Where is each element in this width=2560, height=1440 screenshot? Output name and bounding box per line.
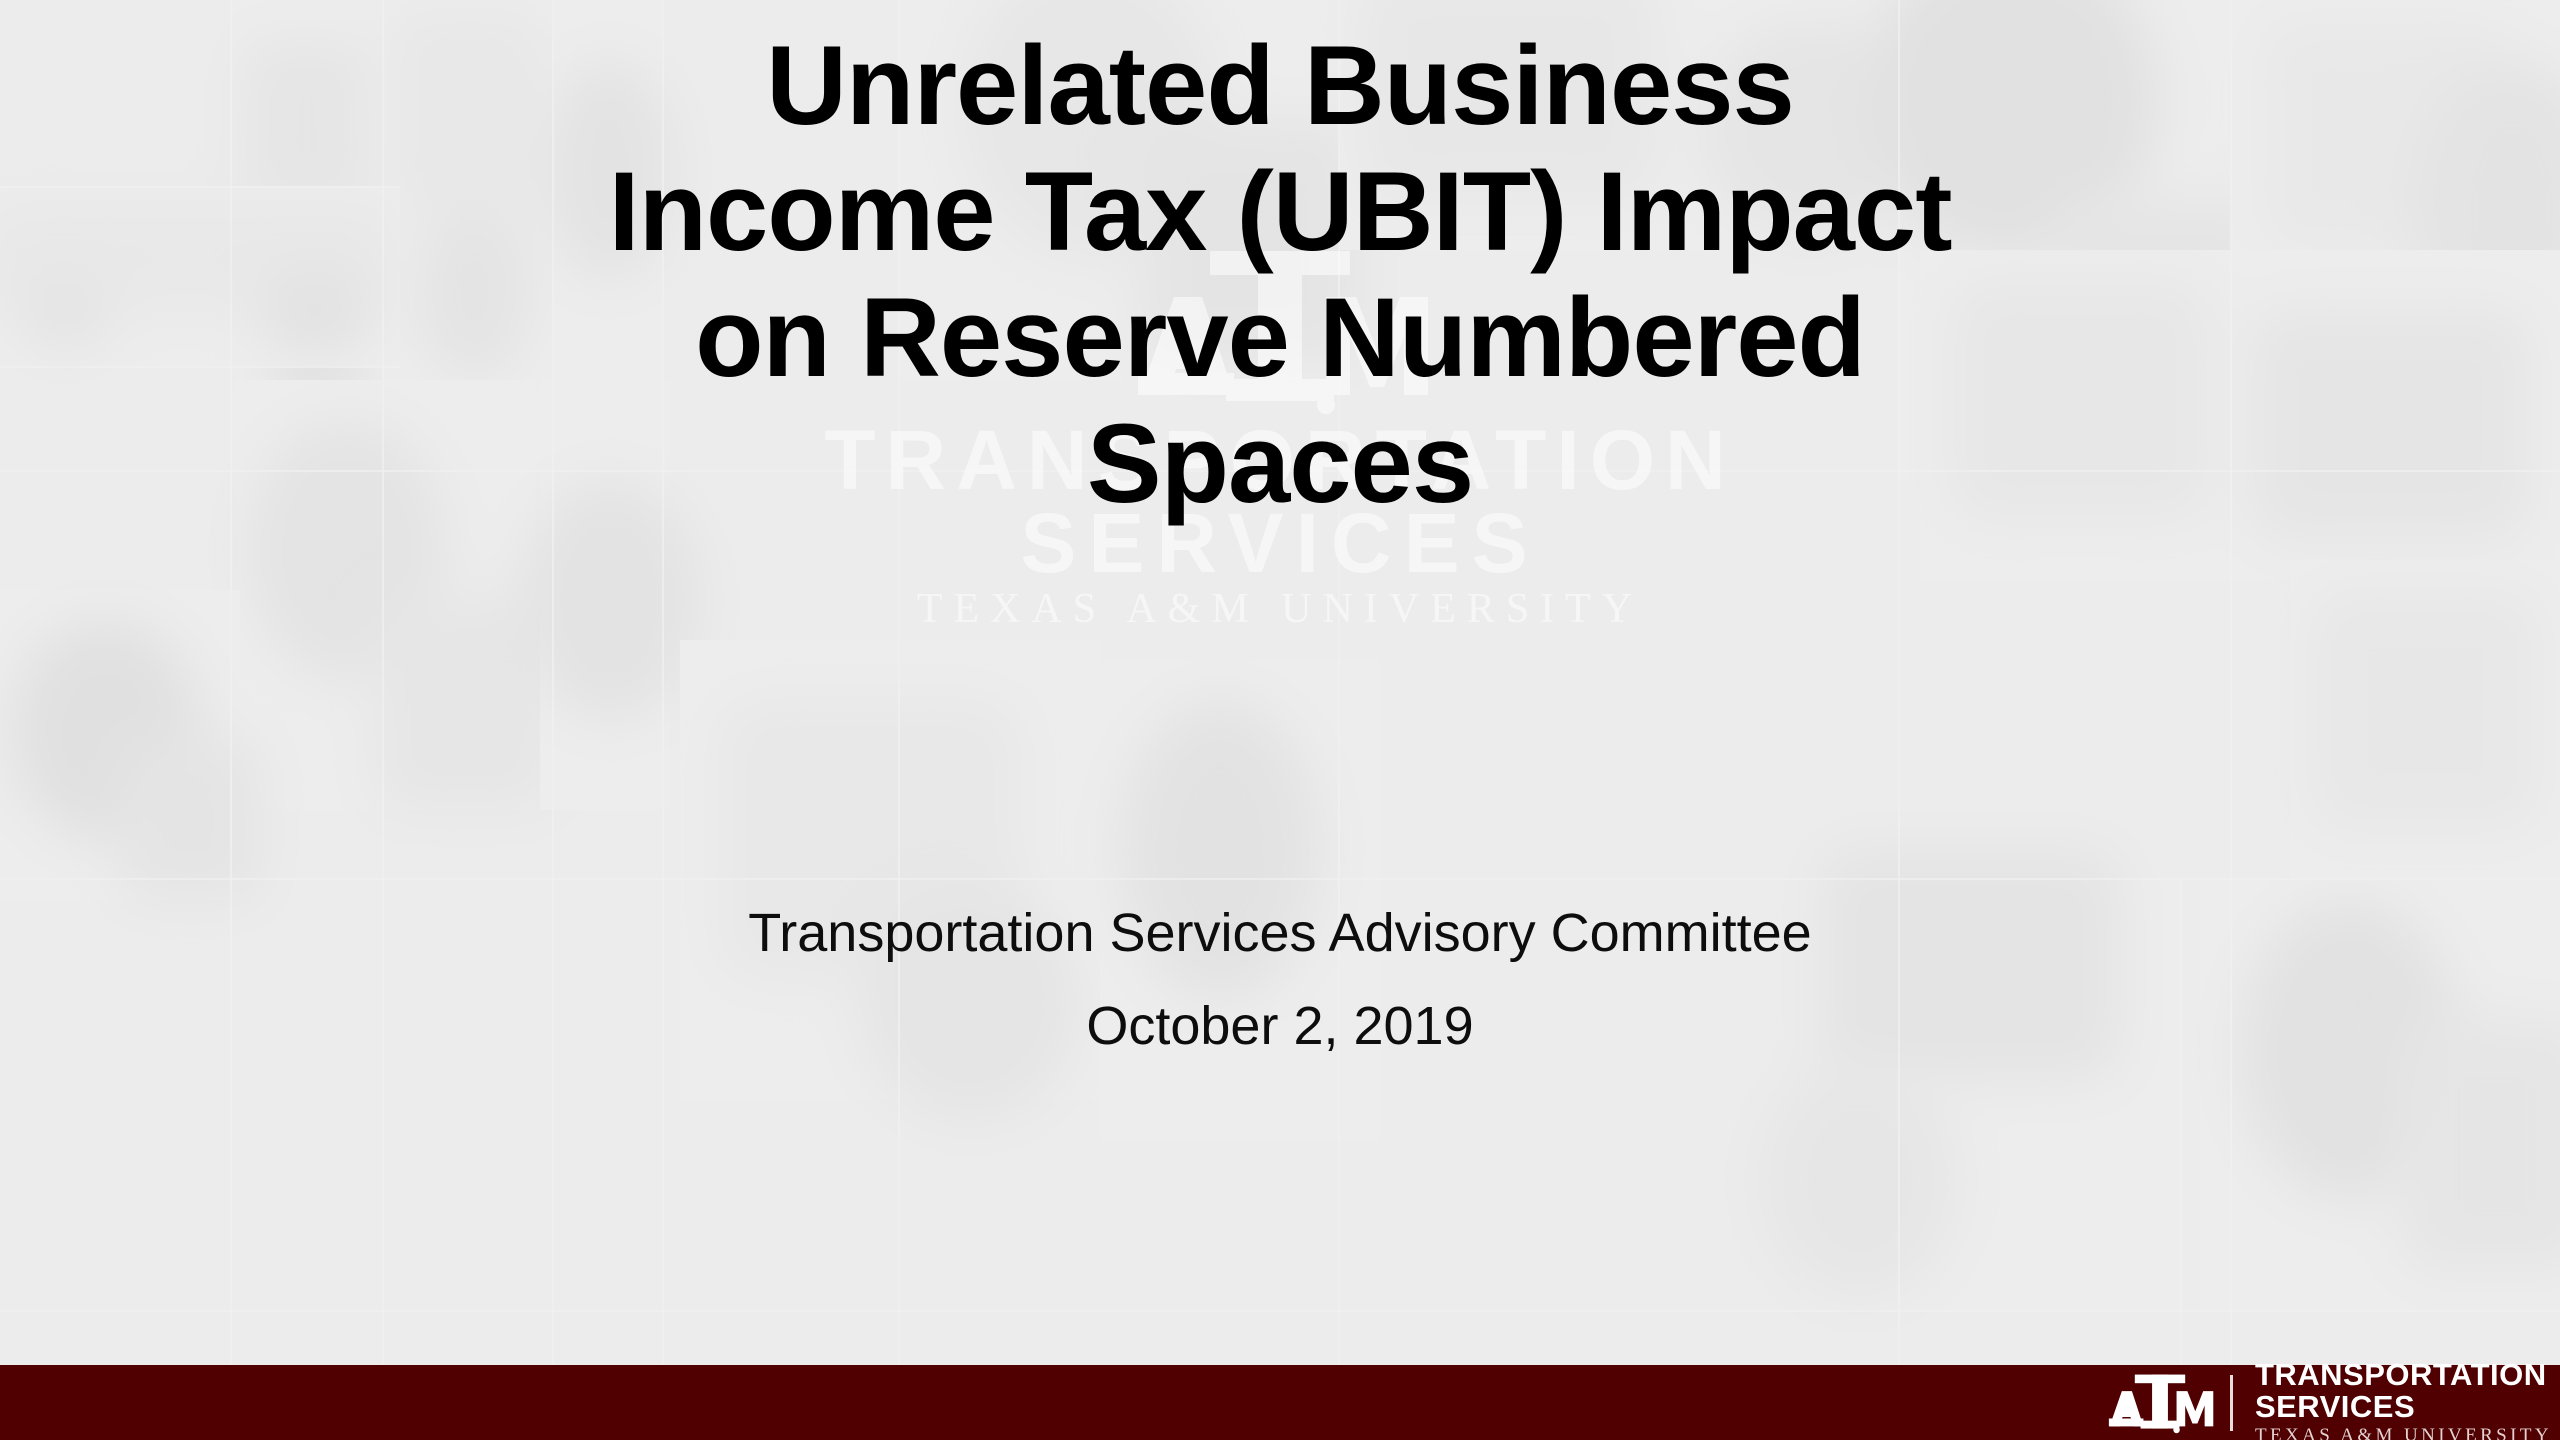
title-line-2: Income Tax (UBIT) Impact <box>280 156 2280 268</box>
atm-monogram-icon <box>2106 1370 2214 1436</box>
subtitle-line-date: October 2, 2019 <box>280 998 2280 1055</box>
title-line-1: Unrelated Business <box>280 30 2280 142</box>
presentation-slide: TRANSPORTATION SERVICES TEXAS A&M UNIVER… <box>0 0 2560 1440</box>
slide-subtitle: Transportation Services Advisory Committ… <box>280 905 2280 1090</box>
footer-logo-text: TRANSPORTATION SERVICES TEXAS A&M UNIVER… <box>2255 1359 2552 1440</box>
slide-footer-bar: TRANSPORTATION SERVICES TEXAS A&M UNIVER… <box>0 1365 2560 1440</box>
footer-logo-divider <box>2230 1375 2233 1431</box>
subtitle-line-committee: Transportation Services Advisory Committ… <box>280 905 2280 962</box>
footer-logo: TRANSPORTATION SERVICES TEXAS A&M UNIVER… <box>2106 1359 2552 1440</box>
slide-title: Unrelated Business Income Tax (UBIT) Imp… <box>280 30 2280 534</box>
footer-line-3: TEXAS A&M UNIVERSITY <box>2255 1426 2552 1440</box>
title-line-3: on Reserve Numbered <box>280 282 2280 394</box>
footer-line-2: SERVICES <box>2255 1391 2552 1422</box>
slide-content: Unrelated Business Income Tax (UBIT) Imp… <box>0 0 2560 1365</box>
footer-line-1: TRANSPORTATION <box>2255 1359 2552 1390</box>
title-line-4: Spaces <box>280 408 2280 520</box>
